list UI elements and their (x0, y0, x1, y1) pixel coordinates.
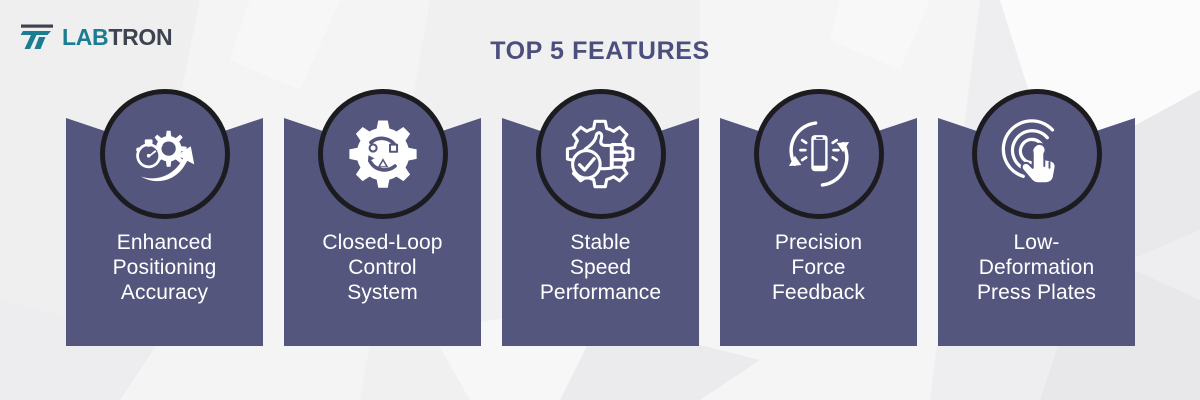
feature-label-line1: Stable (508, 231, 693, 256)
feature-card-closed-loop-control-system[interactable]: Closed-Loop Control System (284, 118, 481, 346)
feature-label-line3: Accuracy (72, 281, 257, 306)
feature-label: Enhanced Positioning Accuracy (72, 231, 257, 305)
feature-label-line2: Deformation (944, 256, 1129, 281)
vibrating-phone-rotation-arrows-icon (776, 111, 862, 197)
feature-icon-badge (536, 89, 666, 219)
feature-label-line1: Low- (944, 231, 1129, 256)
feature-card-precision-force-feedback[interactable]: Precision Force Feedback (720, 118, 917, 346)
feature-card-stable-speed-performance[interactable]: Stable Speed Performance (502, 118, 699, 346)
feature-icon-badge (754, 89, 884, 219)
feature-label-line2: Speed (508, 256, 693, 281)
feature-label-line3: Feedback (726, 281, 911, 306)
feature-label: Closed-Loop Control System (290, 231, 475, 305)
feature-label-line1: Precision (726, 231, 911, 256)
feature-label: Low- Deformation Press Plates (944, 231, 1129, 305)
feature-card-row: Enhanced Positioning Accuracy (66, 118, 1135, 346)
gear-thumbs-up-checkmark-icon (558, 111, 644, 197)
feature-label-line1: Enhanced (72, 231, 257, 256)
stopwatch-gear-growth-arrow-icon (122, 111, 208, 197)
feature-label-line2: Force (726, 256, 911, 281)
tap-gesture-ripple-hand-icon (994, 111, 1080, 197)
feature-card-low-deformation-press-plates[interactable]: Low- Deformation Press Plates (938, 118, 1135, 346)
feature-label-line3: System (290, 281, 475, 306)
feature-label-line1: Closed-Loop (290, 231, 475, 256)
feature-label: Stable Speed Performance (508, 231, 693, 305)
feature-label-line2: Control (290, 256, 475, 281)
page-title: TOP 5 FEATURES (0, 37, 1200, 66)
feature-icon-badge (100, 89, 230, 219)
feature-label-line3: Performance (508, 281, 693, 306)
feature-icon-badge (972, 89, 1102, 219)
feature-icon-badge (318, 89, 448, 219)
feature-label-line2: Positioning (72, 256, 257, 281)
gear-closed-loop-cycle-icon (340, 111, 426, 197)
feature-card-enhanced-positioning-accuracy[interactable]: Enhanced Positioning Accuracy (66, 118, 263, 346)
feature-label-line3: Press Plates (944, 281, 1129, 306)
feature-label: Precision Force Feedback (726, 231, 911, 305)
infographic-root: LABTRON TOP 5 FEATURES (0, 0, 1200, 400)
